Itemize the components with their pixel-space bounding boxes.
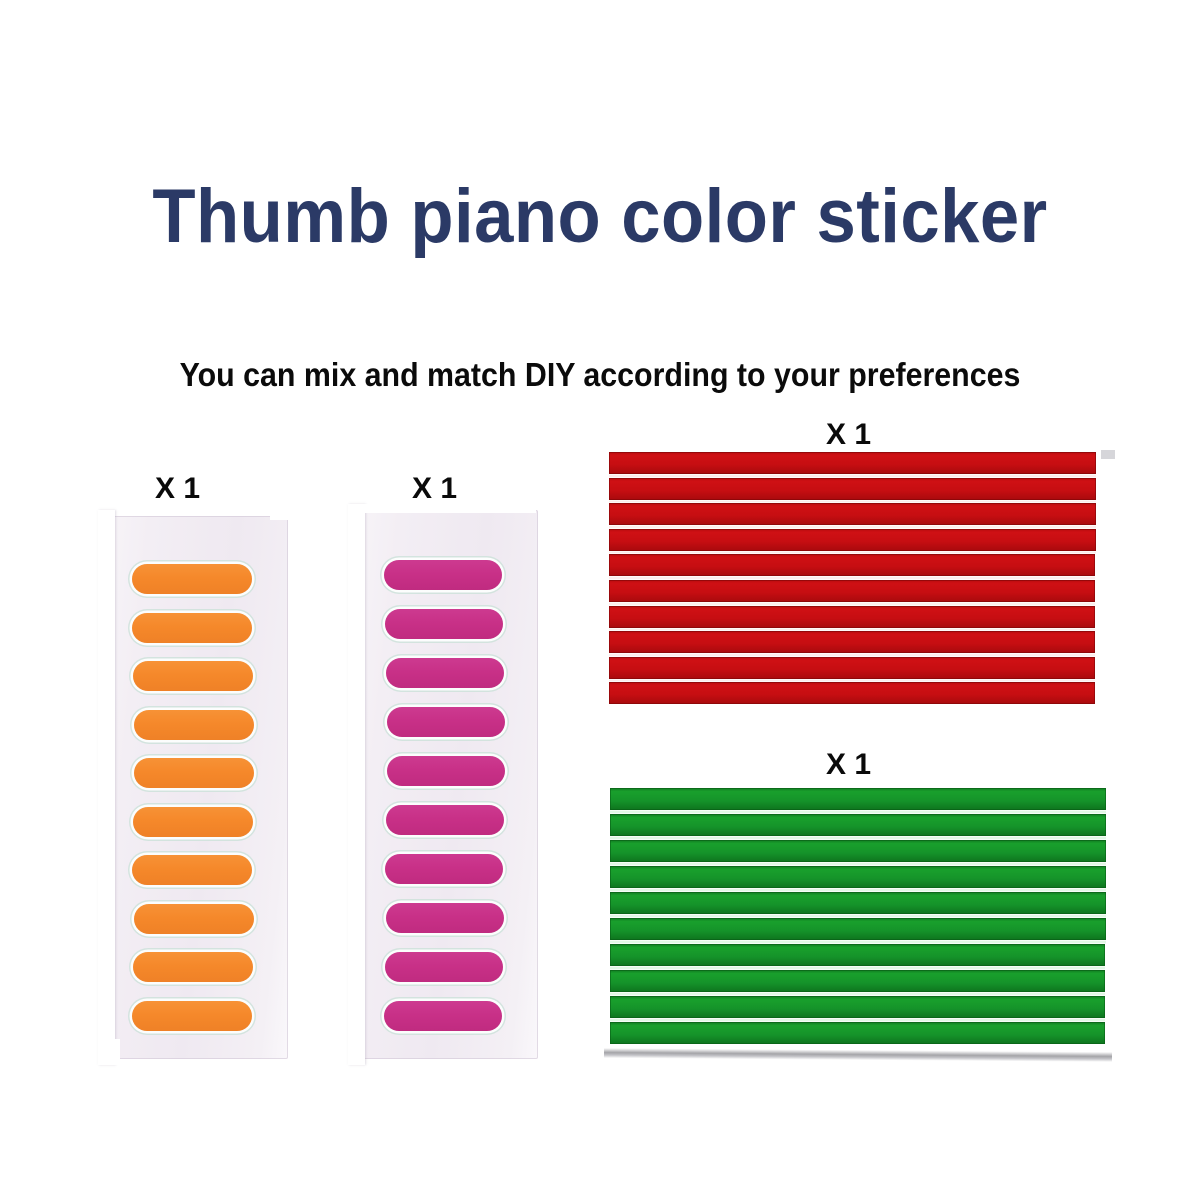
sticker-strip[interactable] <box>610 814 1106 836</box>
orange-sheet-liner-edge <box>98 510 115 1065</box>
sticker-strip[interactable] <box>610 892 1106 914</box>
sticker-strip[interactable] <box>610 788 1106 810</box>
sticker-strip[interactable] <box>609 580 1095 602</box>
green-sticker-strip-block[interactable] <box>610 788 1108 1048</box>
sticker-chip[interactable] <box>133 807 253 837</box>
sticker-chip[interactable] <box>133 661 253 691</box>
green-block-drop-shadow <box>604 1048 1112 1062</box>
sticker-strip[interactable] <box>609 606 1095 628</box>
sticker-chip[interactable] <box>386 903 504 933</box>
sticker-chip[interactable] <box>134 710 254 740</box>
green-block-count-label: X 1 <box>826 748 871 782</box>
sticker-chip[interactable] <box>387 756 505 786</box>
sticker-chip[interactable] <box>384 1001 502 1031</box>
page-subtitle: You can mix and match DIY according to y… <box>48 355 1152 395</box>
sticker-strip[interactable] <box>610 840 1106 862</box>
sticker-chip[interactable] <box>386 805 504 835</box>
sticker-strip[interactable] <box>609 503 1096 525</box>
sticker-chip[interactable] <box>132 855 252 885</box>
sticker-chip[interactable] <box>386 658 504 688</box>
sticker-chip[interactable] <box>387 707 505 737</box>
sticker-chip[interactable] <box>132 1001 252 1031</box>
page-title: Thumb piano color sticker <box>42 175 1158 259</box>
sticker-strip[interactable] <box>609 657 1095 679</box>
sticker-strip[interactable] <box>609 682 1095 704</box>
sticker-strip[interactable] <box>609 529 1096 551</box>
magenta-sheet-liner-edge <box>348 504 365 1065</box>
sticker-strip[interactable] <box>609 554 1095 576</box>
orange-sheet-top-tab <box>270 508 290 520</box>
product-image-canvas: Thumb piano color sticker You can mix an… <box>0 0 1200 1200</box>
orange-sticker-sheet[interactable] <box>108 516 288 1059</box>
sticker-strip[interactable] <box>609 452 1096 474</box>
sticker-strip[interactable] <box>610 1022 1105 1044</box>
sticker-strip[interactable] <box>609 478 1096 500</box>
sticker-strip[interactable] <box>610 866 1106 888</box>
sticker-chip[interactable] <box>385 952 503 982</box>
sticker-strip[interactable] <box>610 996 1105 1018</box>
sticker-chip[interactable] <box>385 854 503 884</box>
red-sticker-strip-block[interactable] <box>609 452 1099 708</box>
sticker-chip[interactable] <box>384 560 502 590</box>
red-block-corner-mark <box>1101 450 1115 459</box>
sticker-chip[interactable] <box>132 613 252 643</box>
sticker-strip[interactable] <box>610 918 1106 940</box>
magenta-sheet-top-tab <box>360 504 536 513</box>
sticker-chip[interactable] <box>134 758 254 788</box>
sticker-chip[interactable] <box>134 904 254 934</box>
orange-sheet-bottom-notch <box>98 1039 120 1065</box>
sticker-chip[interactable] <box>132 564 252 594</box>
sticker-strip[interactable] <box>610 944 1105 966</box>
sticker-strip[interactable] <box>609 631 1095 653</box>
orange-sheet-count-label: X 1 <box>155 472 200 506</box>
sticker-chip[interactable] <box>385 609 503 639</box>
magenta-sticker-sheet[interactable] <box>358 510 538 1059</box>
sticker-strip[interactable] <box>610 970 1105 992</box>
magenta-sheet-count-label: X 1 <box>412 472 457 506</box>
red-block-count-label: X 1 <box>826 418 871 452</box>
sticker-chip[interactable] <box>133 952 253 982</box>
